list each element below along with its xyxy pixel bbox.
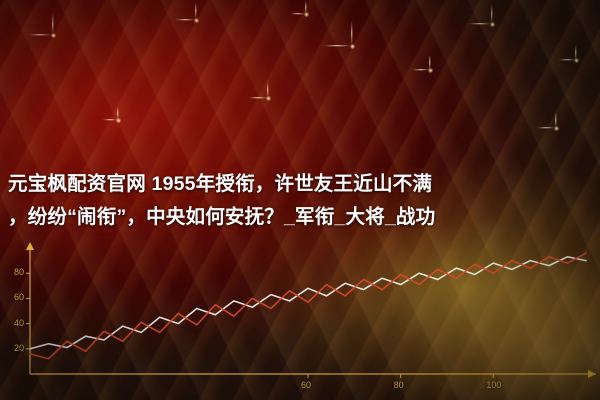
headline-text: 元宝枫配资官网 1955年授衔，许世友王近山不满 ，纷纷“闹衔”，中央如何安抚？…	[8, 168, 596, 234]
headline-line-2: ，纷纷“闹衔”，中央如何安抚？_军衔_大将_战功	[8, 201, 596, 234]
headline-line-1: 元宝枫配资官网 1955年授衔，许世友王近山不满	[8, 168, 596, 201]
promo-banner: 204060806080100 元宝枫配资官网 1955年授衔，许世友王近山不满…	[0, 0, 600, 400]
